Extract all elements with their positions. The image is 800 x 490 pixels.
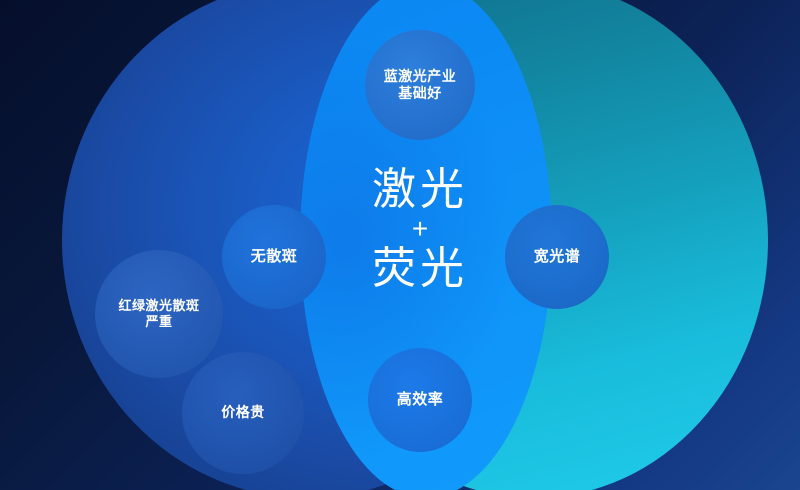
bubble-red-green-speckle-label: 红绿激光散斑 严重 — [118, 298, 199, 331]
bubble-no-speckle-label: 无散斑 — [251, 248, 298, 267]
bubble-expensive-price-label: 价格贵 — [221, 404, 265, 422]
center-headline: 激光 + 荧光 — [338, 168, 502, 292]
bubble-high-efficiency[interactable]: 高效率 — [368, 348, 472, 452]
bubble-blue-laser[interactable]: 蓝激光产业 基础好 — [365, 30, 475, 140]
bubble-expensive-price[interactable]: 价格贵 — [182, 352, 304, 474]
center-headline-plus: + — [338, 215, 502, 244]
bubble-red-green-speckle[interactable]: 红绿激光散斑 严重 — [95, 250, 223, 378]
bubble-high-efficiency-label: 高效率 — [397, 391, 444, 410]
venn-diagram-canvas: 蓝激光产业 基础好 无散斑 宽光谱 高效率 红绿激光散斑 严重 价格贵 激光 +… — [0, 0, 800, 490]
bubble-no-speckle[interactable]: 无散斑 — [222, 205, 326, 309]
center-headline-line-bottom: 荧光 — [338, 247, 502, 292]
bubble-blue-laser-label: 蓝激光产业 基础好 — [384, 68, 457, 103]
center-headline-line-top: 激光 — [338, 168, 502, 213]
bubble-wide-spectrum-label: 宽光谱 — [534, 248, 581, 267]
bubble-wide-spectrum[interactable]: 宽光谱 — [505, 205, 609, 309]
